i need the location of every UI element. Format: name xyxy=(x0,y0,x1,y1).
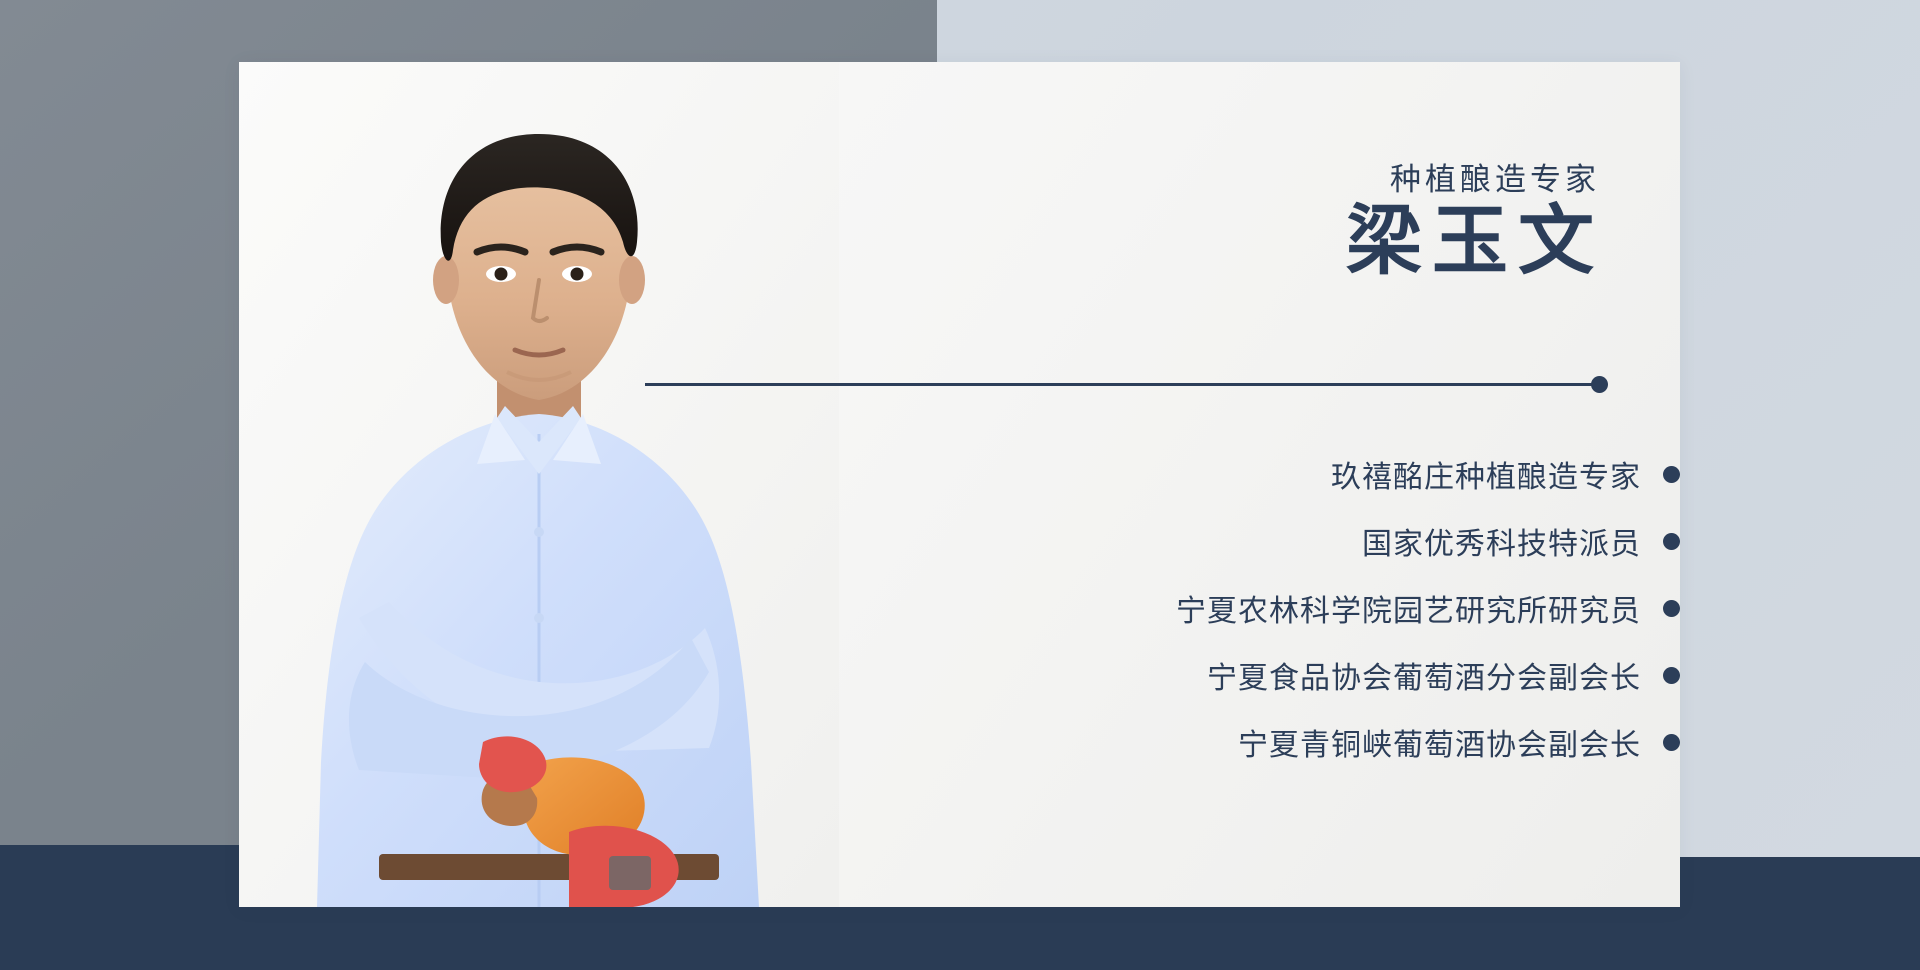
portrait-photo xyxy=(239,62,839,907)
list-item: 宁夏农林科学院园艺研究所研究员 xyxy=(940,581,1680,635)
list-item: 宁夏食品协会葡萄酒分会副会长 xyxy=(940,648,1680,702)
bullet-dot-icon xyxy=(1663,734,1680,751)
credential-label: 宁夏农林科学院园艺研究所研究员 xyxy=(1176,586,1641,630)
poster-canvas: 种植酿造专家 梁玉文 玖禧酩庄种植酿造专家 国家优秀科技特派员 宁夏农林科学院园… xyxy=(0,0,1920,970)
bullet-dot-icon xyxy=(1663,600,1680,617)
credential-label: 宁夏食品协会葡萄酒分会副会长 xyxy=(1207,653,1641,697)
profile-eyebrow-title: 种植酿造专家 xyxy=(1390,154,1600,199)
profile-card: 种植酿造专家 梁玉文 玖禧酩庄种植酿造专家 国家优秀科技特派员 宁夏农林科学院园… xyxy=(239,62,1680,907)
bullet-dot-icon xyxy=(1663,466,1680,483)
list-item: 玖禧酩庄种植酿造专家 xyxy=(940,447,1680,501)
credential-label: 国家优秀科技特派员 xyxy=(1362,519,1641,563)
person-name: 梁玉文 xyxy=(1346,204,1604,280)
list-item: 宁夏青铜峡葡萄酒协会副会长 xyxy=(940,715,1680,769)
header-divider-rule xyxy=(645,383,1598,386)
header-divider-end-dot xyxy=(1591,376,1608,393)
credential-label: 玖禧酩庄种植酿造专家 xyxy=(1331,452,1641,496)
bullet-dot-icon xyxy=(1663,533,1680,550)
bullet-dot-icon xyxy=(1663,667,1680,684)
credentials-list: 玖禧酩庄种植酿造专家 国家优秀科技特派员 宁夏农林科学院园艺研究所研究员 宁夏食… xyxy=(940,447,1680,782)
credential-label: 宁夏青铜峡葡萄酒协会副会长 xyxy=(1238,720,1641,764)
list-item: 国家优秀科技特派员 xyxy=(940,514,1680,568)
